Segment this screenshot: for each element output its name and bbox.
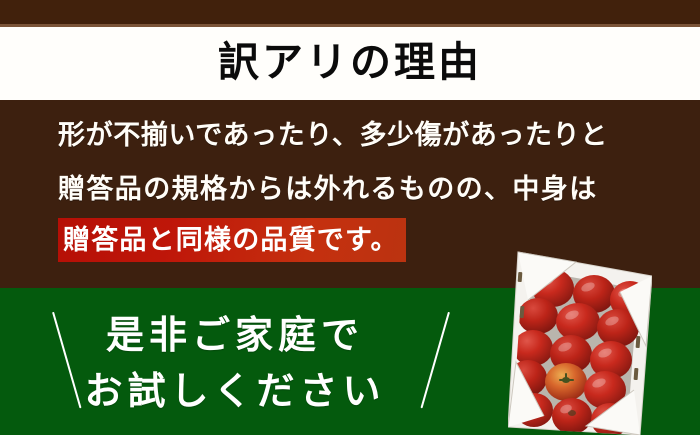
top-brown-bar bbox=[0, 0, 700, 24]
description-line-2: 贈答品の規格からは外れるものの、中身は bbox=[58, 162, 658, 216]
page-title: 訳アリの理由 bbox=[218, 42, 482, 83]
tomato-box-illustration bbox=[508, 250, 652, 435]
highlight-badge: 贈答品と同様の品質です。 bbox=[58, 218, 406, 262]
tomatoes-in-white-box-photo bbox=[508, 250, 652, 435]
title-band: 訳アリの理由 bbox=[0, 27, 700, 100]
description-line-1: 形が不揃いであったり、多少傷があったりと bbox=[58, 108, 658, 162]
promo-banner: 訳アリの理由 形が不揃いであったり、多少傷があったりと 贈答品の規格からは外れる… bbox=[0, 0, 700, 435]
description-text-block: 形が不揃いであったり、多少傷があったりと 贈答品の規格からは外れるものの、中身は… bbox=[58, 108, 658, 264]
